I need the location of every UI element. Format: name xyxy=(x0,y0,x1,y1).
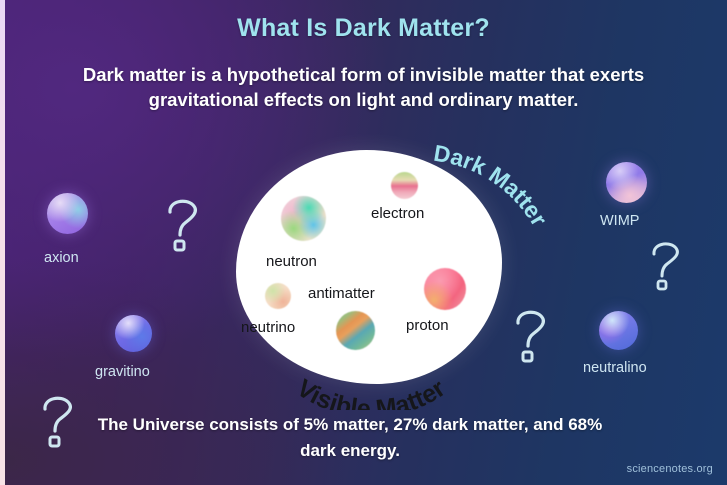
particle-axion-sphere xyxy=(47,193,88,234)
particle-antimatter-label: antimatter xyxy=(308,285,375,302)
question-mark-icon xyxy=(36,392,80,448)
particle-neutron-label: neutron xyxy=(266,253,317,270)
footer-statistic-text: The Universe consists of 5% matter, 27% … xyxy=(90,412,610,464)
particle-antimatter-sphere xyxy=(336,311,375,350)
particle-neutrino-label: neutrino xyxy=(241,319,295,336)
particle-neutron-sphere xyxy=(281,196,326,241)
page-subtitle: Dark matter is a hypothetical form of in… xyxy=(38,62,689,112)
particle-gravitino-label: gravitino xyxy=(95,364,150,380)
particle-neutralino-sphere xyxy=(599,311,638,350)
question-mark-icon xyxy=(508,306,554,364)
attribution-label: sciencenotes.org xyxy=(627,463,713,475)
particle-gravitino-sphere xyxy=(115,315,152,352)
particle-neutralino-label: neutralino xyxy=(583,360,647,376)
left-edge-strip xyxy=(0,0,5,485)
question-mark-icon xyxy=(645,238,687,292)
particle-electron-label: electron xyxy=(371,205,424,222)
page-title: What Is Dark Matter? xyxy=(0,14,727,43)
particle-neutrino-sphere xyxy=(265,283,291,309)
particle-wimp-label: WIMP xyxy=(600,213,639,229)
particle-axion-label: axion xyxy=(44,250,79,266)
particle-wimp-sphere xyxy=(606,162,647,203)
particle-electron-sphere xyxy=(391,172,418,199)
question-mark-icon xyxy=(160,195,206,253)
infographic-canvas: What Is Dark Matter? Dark matter is a hy… xyxy=(0,0,727,485)
particle-proton-sphere xyxy=(424,268,466,310)
particle-proton-label: proton xyxy=(406,317,449,334)
